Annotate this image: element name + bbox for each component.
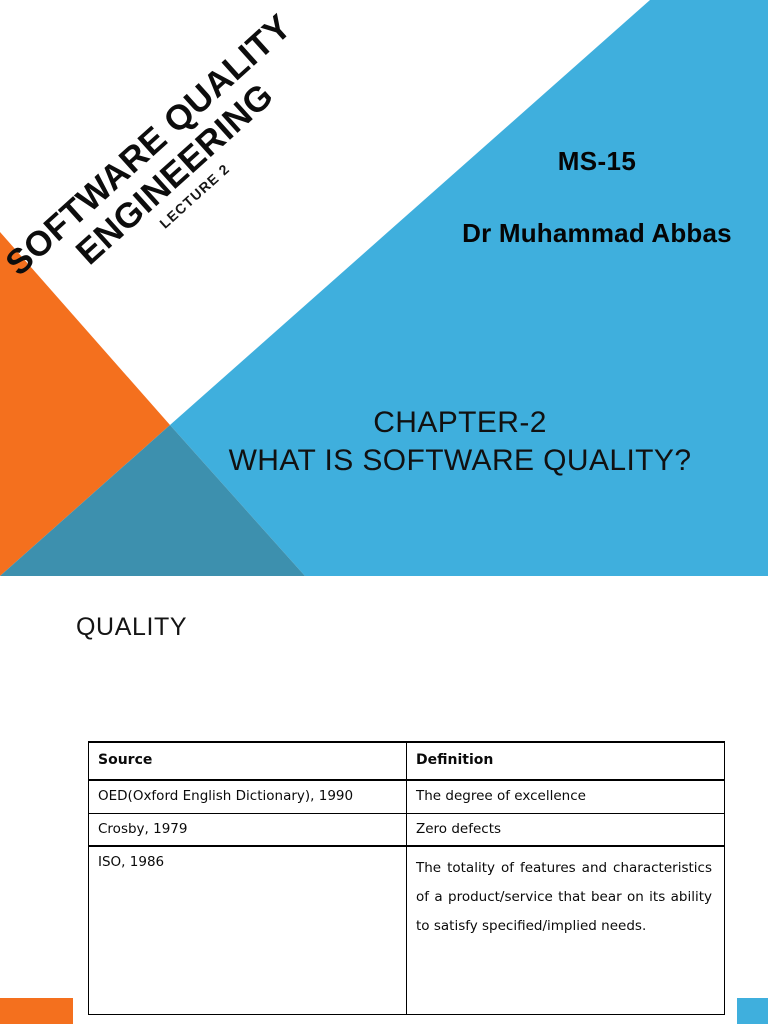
table-cell-definition: The totality of features and characteris… — [407, 846, 725, 1015]
banner-geometric-artwork — [0, 0, 768, 576]
table-header-source: Source — [89, 742, 407, 780]
table-cell-source: OED(Oxford English Dictionary), 1990 — [89, 780, 407, 813]
table-cell-definition: The degree of excellence — [407, 780, 725, 813]
table-header-row: Source Definition — [89, 742, 725, 780]
table-cell-source: ISO, 1986 — [89, 846, 407, 1015]
footer-orange-bar — [0, 998, 73, 1024]
table-cell-definition: Zero defects — [407, 813, 725, 846]
footer-blue-bar — [737, 998, 768, 1024]
section-heading-quality: QUALITY — [76, 613, 187, 642]
course-code: MS-15 — [452, 146, 742, 177]
quality-definitions-table: Source Definition OED(Oxford English Dic… — [88, 741, 725, 1015]
table-row: OED(Oxford English Dictionary), 1990 The… — [89, 780, 725, 813]
quality-definitions-table-wrapper: Source Definition OED(Oxford English Dic… — [88, 741, 724, 1015]
title-slide-banner: SOFTWARE QUALITY ENGINEERING LECTURE 2 M… — [0, 0, 768, 576]
table-row: ISO, 1986 The totality of features and c… — [89, 846, 725, 1015]
chapter-question: WHAT IS SOFTWARE QUALITY? — [160, 442, 760, 480]
course-author: Dr Muhammad Abbas — [452, 215, 742, 253]
course-spacer — [452, 177, 742, 215]
course-info-block: MS-15 Dr Muhammad Abbas — [452, 146, 742, 253]
table-cell-source: Crosby, 1979 — [89, 813, 407, 846]
chapter-heading-block: CHAPTER-2 WHAT IS SOFTWARE QUALITY? — [160, 404, 760, 481]
chapter-number: CHAPTER-2 — [160, 404, 760, 442]
table-row: Crosby, 1979 Zero defects — [89, 813, 725, 846]
slide-content-area: QUALITY Source Definition OED(Oxford Eng… — [0, 576, 768, 1024]
table-header-definition: Definition — [407, 742, 725, 780]
